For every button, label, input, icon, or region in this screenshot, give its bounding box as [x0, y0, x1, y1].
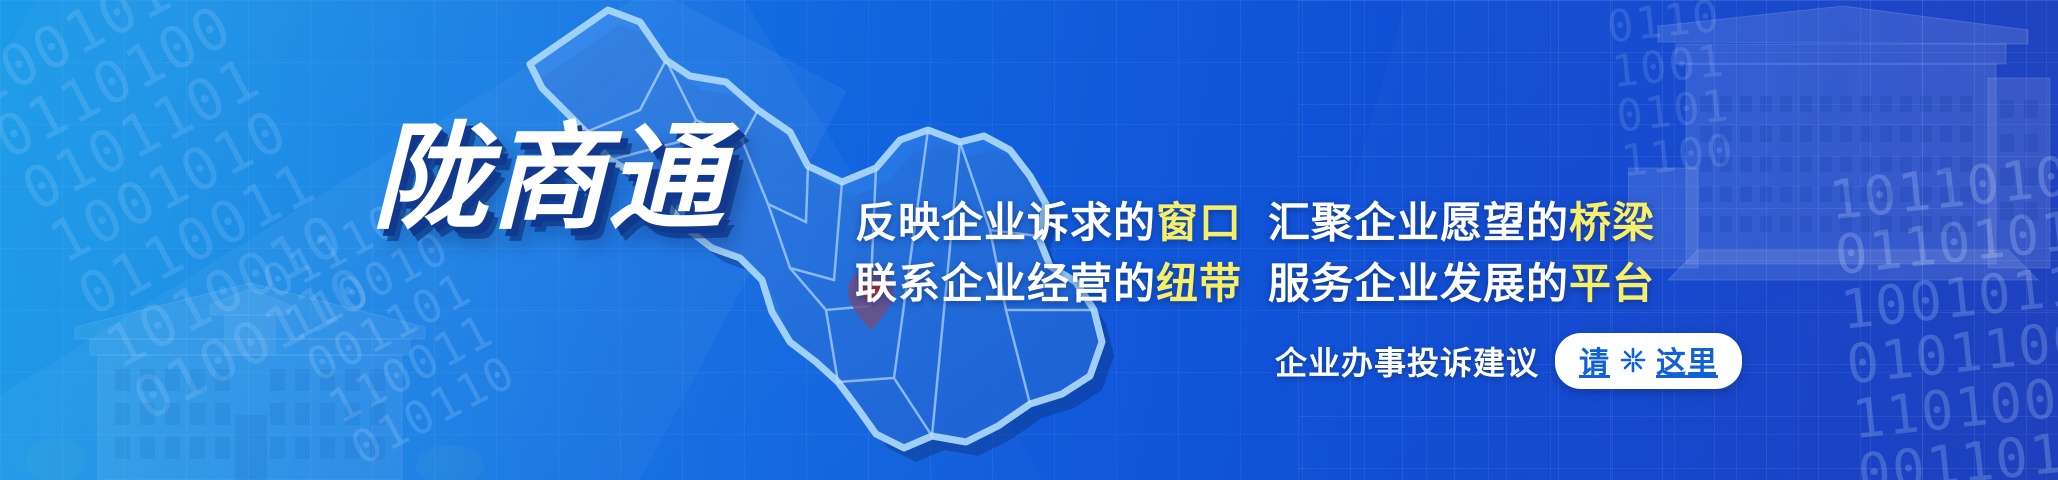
slogan-line-2: 联系企业经营的纽带服务企业发展的平台 — [855, 253, 1655, 314]
slogan-l1-p1: 反映企业诉求的 — [855, 199, 1156, 246]
cta-row: 企业办事投诉建议 请 — [1275, 333, 1742, 389]
slogan-l1-p2: 汇聚企业愿望的 — [1268, 199, 1569, 246]
promo-banner: 1001011 0110100 0101101 1001010 0110011 … — [0, 0, 2058, 480]
cta-button-prefix: 请 — [1579, 338, 1610, 382]
cta-label: 企业办事投诉建议 — [1275, 338, 1539, 384]
click-here-button[interactable]: 请 这里 — [1555, 333, 1742, 389]
slogan-l1-h1: 窗口 — [1156, 199, 1242, 246]
slogan-block: 反映企业诉求的窗口汇聚企业愿望的桥梁 联系企业经营的纽带服务企业发展的平台 — [855, 192, 1655, 315]
slogan-l2-h1: 纽带 — [1156, 260, 1242, 307]
click-spark-icon — [1618, 345, 1648, 375]
slogan-l2-p1: 联系企业经营的 — [855, 260, 1156, 307]
cta-button-suffix: 这里 — [1656, 338, 1718, 382]
page-title: 陇商通 — [372, 120, 726, 236]
slogan-line-1: 反映企业诉求的窗口汇聚企业愿望的桥梁 — [855, 192, 1655, 253]
slogan-l2-p2: 服务企业发展的 — [1268, 260, 1569, 307]
slogan-l2-h2: 平台 — [1569, 260, 1655, 307]
slogan-l1-h2: 桥梁 — [1569, 199, 1655, 246]
